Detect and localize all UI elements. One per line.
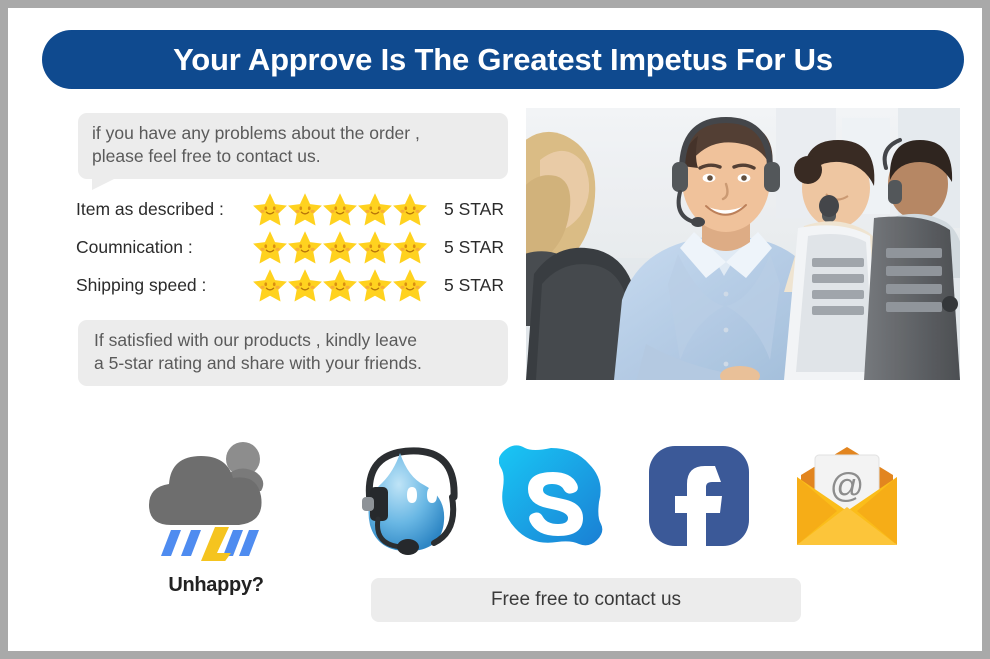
facebook-icon <box>624 426 774 566</box>
smiling-star-icon <box>357 191 393 227</box>
unhappy-label: Unhappy? <box>136 574 296 597</box>
rating-label: Coumnication : <box>76 237 252 258</box>
rating-label: Shipping speed : <box>76 275 252 296</box>
speech-bubble-tail <box>92 177 118 190</box>
rating-label: Item as described : <box>76 199 252 220</box>
intro-speech-bubble: if you have any problems about the order… <box>78 113 508 179</box>
star-rating-group <box>252 267 432 303</box>
rating-request-line-1: If satisfied with our products , kindly … <box>94 329 494 352</box>
storm-cloud-icon <box>134 426 284 566</box>
smiling-star-icon <box>357 267 393 303</box>
star-rating-group <box>252 191 432 227</box>
trademanager-headset-icon <box>328 426 478 566</box>
ratings-list: Item as described : <box>76 190 516 304</box>
svg-text:@: @ <box>830 467 865 505</box>
call-center-agents-photo <box>526 108 960 380</box>
smiling-star-icon <box>287 229 323 265</box>
intro-line-2: please feel free to contact us. <box>92 145 494 168</box>
skype-icon <box>476 426 626 566</box>
smiling-star-icon <box>252 191 288 227</box>
contact-icons-row: @ <box>16 426 990 576</box>
contact-bar-text: Free free to contact us <box>491 589 681 611</box>
rating-row: Coumnication : <box>76 228 516 266</box>
smiling-star-icon <box>252 229 288 265</box>
smiling-star-icon <box>322 267 358 303</box>
contact-bar[interactable]: Free free to contact us <box>371 578 801 622</box>
promo-banner-page: Your Approve Is The Greatest Impetus For… <box>0 0 990 659</box>
smiling-star-icon <box>392 267 428 303</box>
rating-row: Item as described : <box>76 190 516 228</box>
smiling-star-icon <box>322 229 358 265</box>
smiling-star-icon <box>357 229 393 265</box>
rating-request-line-2: a 5-star rating and share with your frie… <box>94 352 494 375</box>
intro-line-1: if you have any problems about the order… <box>92 122 494 145</box>
rating-value: 5 STAR <box>444 237 504 258</box>
smiling-star-icon <box>287 267 323 303</box>
rating-value: 5 STAR <box>444 199 504 220</box>
smiling-star-icon <box>252 267 288 303</box>
rating-request-box: If satisfied with our products , kindly … <box>78 320 508 386</box>
smiling-star-icon <box>287 191 323 227</box>
smiling-star-icon <box>392 191 428 227</box>
email-envelope-icon: @ <box>772 426 922 566</box>
header-banner: Your Approve Is The Greatest Impetus For… <box>42 30 964 89</box>
rating-value: 5 STAR <box>444 275 504 296</box>
star-rating-group <box>252 229 432 265</box>
page-title: Your Approve Is The Greatest Impetus For… <box>173 42 833 78</box>
smiling-star-icon <box>392 229 428 265</box>
rating-row: Shipping speed : <box>76 266 516 304</box>
smiling-star-icon <box>322 191 358 227</box>
